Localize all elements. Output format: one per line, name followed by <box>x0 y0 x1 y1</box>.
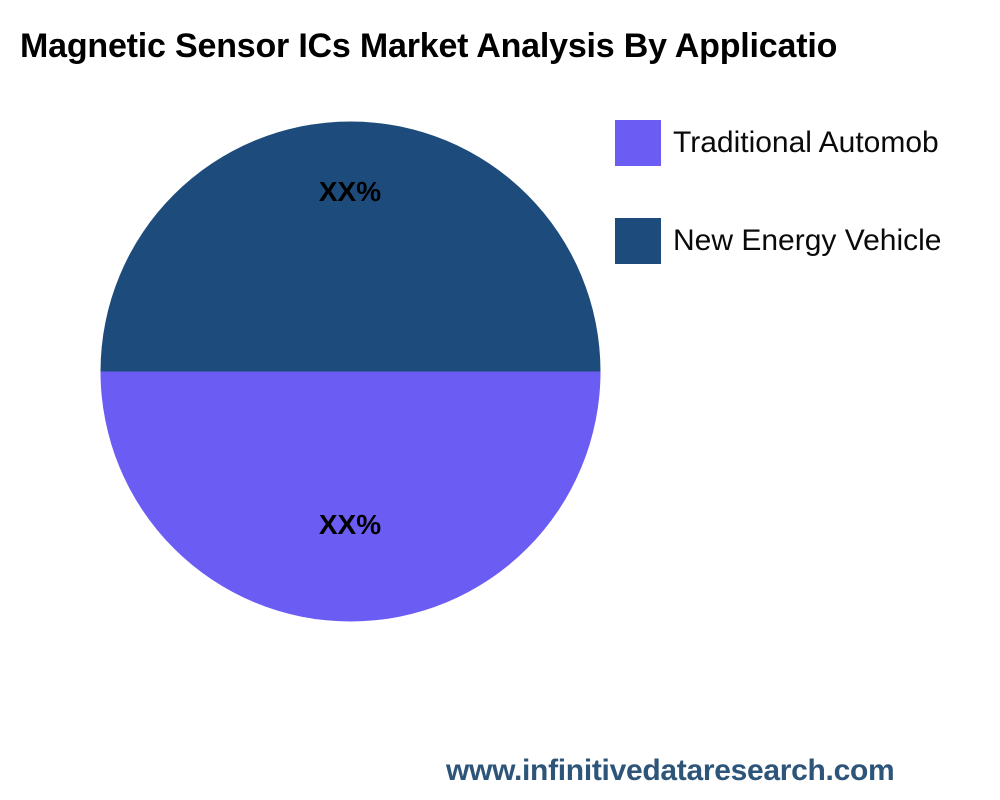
pie-slice-label-traditional-automobile: XX% <box>319 511 381 539</box>
legend-label-new-energy-vehicle: New Energy Vehicle <box>673 218 941 264</box>
legend-item-traditional-automobile[interactable]: Traditional Automob <box>615 120 1000 166</box>
legend-item-new-energy-vehicle[interactable]: New Energy Vehicle <box>615 218 1000 264</box>
pie-slice-label-new-energy-vehicle: XX% <box>319 178 381 206</box>
legend-swatch-traditional-automobile <box>615 120 661 166</box>
footer-source-url[interactable]: www.infinitivedataresearch.com <box>446 752 894 790</box>
chart-legend: Traditional Automob New Energy Vehicle <box>615 120 1000 316</box>
pie-chart-graphic: XX% XX% <box>100 121 601 622</box>
pie-slice-new-energy-vehicle[interactable] <box>101 122 601 372</box>
legend-label-traditional-automobile: Traditional Automob <box>673 120 939 166</box>
legend-swatch-new-energy-vehicle <box>615 218 661 264</box>
chart-title: Magnetic Sensor ICs Market Analysis By A… <box>20 24 1000 68</box>
pie-chart-figure: Magnetic Sensor ICs Market Analysis By A… <box>0 0 1000 800</box>
pie-slice-traditional-automobile[interactable] <box>101 372 601 622</box>
